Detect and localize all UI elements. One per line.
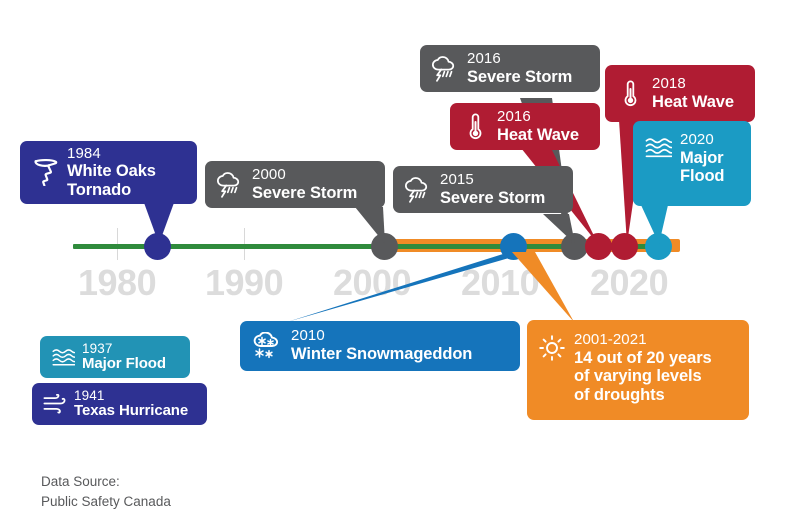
tornado-icon [31, 158, 59, 188]
callout-2000-storm[interactable]: 2000 Severe Storm [205, 161, 385, 208]
callout-2016-heat[interactable]: 2016 Heat Wave [450, 103, 600, 150]
callout-name: Major Flood [82, 356, 166, 373]
callout-year: 2020 [680, 132, 724, 149]
callout-name: Heat Wave [652, 93, 734, 111]
callout-year: 2015 [440, 172, 545, 189]
storm-icon [431, 54, 459, 84]
callout-drought[interactable]: 2001-2021 14 out of 20 years of varying … [527, 320, 749, 420]
tail-2000 [355, 207, 385, 244]
waves-icon [51, 345, 75, 369]
callout-year: 2016 [467, 51, 572, 68]
storm-icon [404, 175, 432, 205]
callout-2020-flood[interactable]: 2020 Major Flood [633, 121, 751, 206]
storm-icon [216, 170, 244, 200]
callout-year: 1937 [82, 341, 166, 356]
callout-year: 2001-2021 [574, 332, 712, 349]
tail-2015 [543, 214, 575, 244]
callout-2015-storm[interactable]: 2015 Severe Storm [393, 166, 573, 213]
callout-name: White Oaks Tornado [67, 162, 156, 199]
callout-name: Severe Storm [440, 189, 545, 207]
callout-name: Severe Storm [252, 184, 357, 202]
callout-year: 2010 [291, 328, 472, 345]
snow-icon [251, 331, 283, 361]
waves-icon [644, 133, 672, 163]
wind-icon [43, 392, 67, 416]
callout-1984-tornado[interactable]: 1984 White Oaks Tornado [20, 141, 197, 204]
thermometer-icon [616, 79, 644, 109]
callout-2016-storm[interactable]: 2016 Severe Storm [420, 45, 600, 92]
tail-drought [512, 252, 574, 322]
callout-name: Severe Storm [467, 68, 572, 86]
callout-name: Winter Snowmageddon [291, 345, 472, 363]
callout-name: Heat Wave [497, 126, 579, 144]
callout-name: 14 out of 20 years of varying levels of … [574, 349, 712, 404]
tail-2020-flood [641, 205, 668, 244]
timeline-infographic: 1980 1990 2000 2010 2020 [0, 0, 800, 529]
callout-year: 2016 [497, 109, 579, 126]
callout-1941-hurricane[interactable]: 1941 Texas Hurricane [32, 383, 207, 425]
callout-name: Texas Hurricane [74, 403, 188, 420]
tail-2010-snow [287, 254, 523, 322]
callout-2010-snow[interactable]: 2010 Winter Snowmageddon [240, 321, 520, 371]
callout-1937-flood[interactable]: 1937 Major Flood [40, 336, 190, 378]
sun-icon [538, 333, 566, 363]
callout-year: 1941 [74, 388, 188, 403]
callout-year: 2018 [652, 76, 734, 93]
callout-2018-heat[interactable]: 2018 Heat Wave [605, 65, 755, 122]
thermometer-icon [461, 112, 489, 142]
callout-year: 2000 [252, 167, 357, 184]
callout-name: Major Flood [680, 149, 724, 186]
tail-1984 [143, 200, 175, 244]
callout-year: 1984 [67, 146, 156, 163]
